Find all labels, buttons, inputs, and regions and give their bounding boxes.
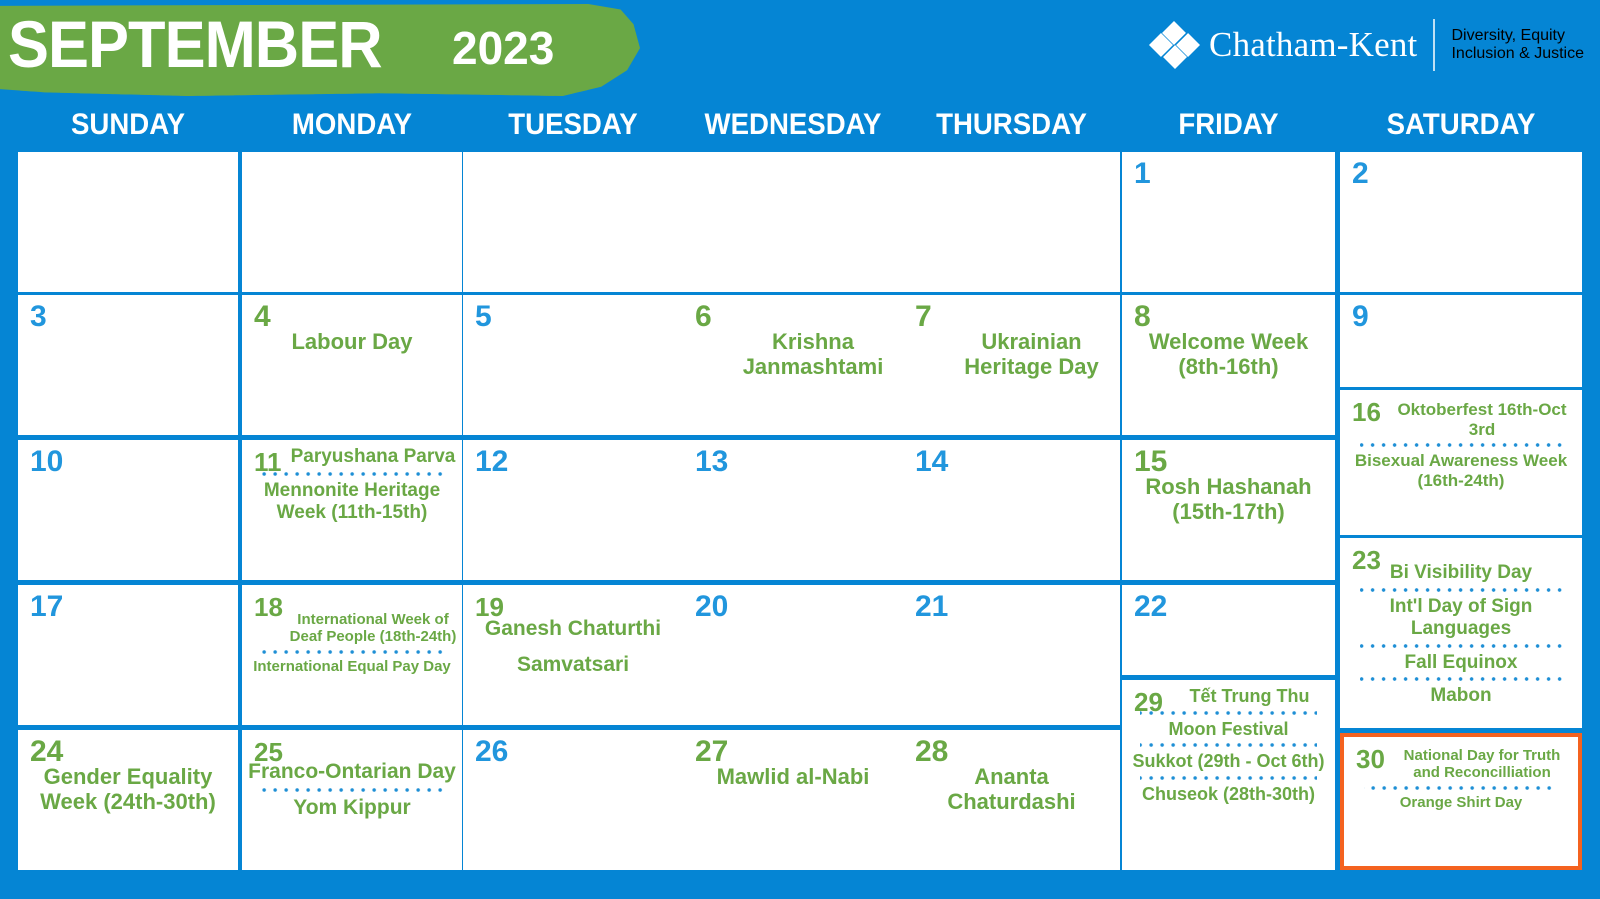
event-separator-dots xyxy=(261,647,443,657)
day-events: Franco-Ontarian DayYom Kippur xyxy=(246,760,458,820)
event-label: Paryushana Parva xyxy=(246,446,458,468)
tagline-line-1: Diversity, Equity xyxy=(1451,27,1584,45)
year-title: 2023 xyxy=(452,22,554,74)
weekday-header-friday: FRIDAY xyxy=(1131,104,1327,148)
day-number: 26 xyxy=(475,734,508,770)
day-events: Oktoberfest 16th-Oct 3rdBisexual Awarene… xyxy=(1344,400,1578,490)
calendar-empty-cell[interactable] xyxy=(18,152,238,292)
tagline-line-2: Inclusion & Justice xyxy=(1451,45,1584,63)
event-separator-dots xyxy=(261,785,443,795)
event-label: Chuseok (28th-30th) xyxy=(1126,784,1331,805)
calendar-day-cell[interactable]: 6Krishna Janmashtami xyxy=(683,295,903,435)
logo-divider xyxy=(1433,19,1435,71)
event-label: Samvatsari xyxy=(467,653,679,677)
day-number: 17 xyxy=(30,589,63,625)
day-number: 13 xyxy=(695,444,728,480)
calendar-day-cell[interactable]: 28Ananta Chaturdashi xyxy=(903,730,1120,870)
event-label: Krishna Janmashtami xyxy=(687,329,899,380)
weekday-header-tuesday: TUESDAY xyxy=(472,104,674,148)
event-label: Moon Festival xyxy=(1126,719,1331,740)
event-separator-dots xyxy=(1360,641,1561,651)
calendar-day-cell[interactable]: 14 xyxy=(903,440,1120,580)
event-label: Int'l Day of Sign Languages xyxy=(1344,596,1578,640)
weekday-header-wednesday: WEDNESDAY xyxy=(692,104,894,148)
calendar-day-cell[interactable]: 25Franco-Ontarian DayYom Kippur xyxy=(242,730,462,870)
event-label: International Week of Deaf People (18th-… xyxy=(246,611,458,646)
day-number: 3 xyxy=(30,299,47,335)
weekday-header-row: SUNDAYMONDAYTUESDAYWEDNESDAYTHURSDAYFRID… xyxy=(0,104,1600,148)
weekday-header-thursday: THURSDAY xyxy=(912,104,1112,148)
day-events: Ganesh ChaturthiSamvatsari xyxy=(467,617,679,677)
month-title: SEPTEMBER xyxy=(8,8,382,80)
calendar-day-cell[interactable]: 5 xyxy=(463,295,683,435)
day-events: International Week of Deaf People (18th-… xyxy=(246,611,458,675)
calendar-day-cell[interactable]: 29Tết Trung ThuMoon FestivalSukkot (29th… xyxy=(1122,680,1335,870)
event-label: Rosh Hashanah (15th-17th) xyxy=(1126,474,1331,525)
event-label: Sukkot (29th - Oct 6th) xyxy=(1126,751,1331,772)
day-events: Ananta Chaturdashi xyxy=(907,764,1116,815)
weekday-header-saturday: SATURDAY xyxy=(1350,104,1573,148)
event-label: Mennonite Heritage Week (11th-15th) xyxy=(246,480,458,524)
day-number: 21 xyxy=(915,589,948,625)
calendar-day-cell[interactable]: 16Oktoberfest 16th-Oct 3rdBisexual Aware… xyxy=(1340,390,1582,535)
event-label: Ananta Chaturdashi xyxy=(907,764,1116,815)
calendar-day-cell[interactable]: 18International Week of Deaf People (18t… xyxy=(242,585,462,725)
event-separator-dots xyxy=(1360,440,1561,450)
day-events: Krishna Janmashtami xyxy=(687,329,899,380)
day-events: Rosh Hashanah (15th-17th) xyxy=(1126,474,1331,525)
calendar-empty-cell[interactable] xyxy=(242,152,462,292)
event-label: Ganesh Chaturthi xyxy=(467,617,679,641)
event-separator-dots xyxy=(1140,740,1316,750)
event-label: Mawlid al-Nabi xyxy=(687,764,899,789)
calendar-day-cell[interactable]: 9 xyxy=(1340,295,1582,387)
event-label: Mabon xyxy=(1344,685,1578,707)
calendar-day-cell[interactable]: 7Ukrainian Heritage Day xyxy=(903,295,1120,435)
day-number: 22 xyxy=(1134,589,1167,625)
day-number: 12 xyxy=(475,444,508,480)
calendar-day-cell[interactable]: 22 xyxy=(1122,585,1335,675)
day-events: Ukrainian Heritage Day xyxy=(907,329,1116,380)
event-label: Fall Equinox xyxy=(1344,652,1578,674)
calendar-day-cell[interactable]: 15Rosh Hashanah (15th-17th) xyxy=(1122,440,1335,580)
calendar-day-cell[interactable]: 23Bi Visibility DayInt'l Day of Sign Lan… xyxy=(1340,538,1582,728)
event-separator-dots xyxy=(1140,708,1316,718)
calendar-empty-cell[interactable] xyxy=(683,152,903,292)
event-label: National Day for Truth and Reconcilliati… xyxy=(1348,747,1574,782)
calendar-empty-cell[interactable] xyxy=(903,152,1120,292)
day-events: Paryushana ParvaMennonite Heritage Week … xyxy=(246,446,458,524)
logo-wordmark: Chatham-Kent xyxy=(1209,25,1417,65)
day-events: Welcome Week (8th-16th) xyxy=(1126,329,1331,380)
day-number: 20 xyxy=(695,589,728,625)
day-number: 10 xyxy=(30,444,63,480)
event-separator-dots xyxy=(1360,585,1561,595)
event-label: Bisexual Awareness Week (16th-24th) xyxy=(1344,451,1578,490)
calendar-day-cell[interactable]: 11Paryushana ParvaMennonite Heritage Wee… xyxy=(242,440,462,580)
day-events: Bi Visibility DayInt'l Day of Sign Langu… xyxy=(1344,562,1578,707)
day-number: 5 xyxy=(475,299,492,335)
event-label: Tết Trung Thu xyxy=(1126,686,1331,707)
day-number: 9 xyxy=(1352,299,1369,335)
calendar-day-cell[interactable]: 24Gender Equality Week (24th-30th) xyxy=(18,730,238,870)
calendar-day-cell[interactable]: 8Welcome Week (8th-16th) xyxy=(1122,295,1335,435)
calendar-empty-cell[interactable] xyxy=(463,152,683,292)
event-label: Ukrainian Heritage Day xyxy=(907,329,1116,380)
calendar-day-cell[interactable]: 13 xyxy=(683,440,903,580)
day-events: Mawlid al-Nabi xyxy=(687,764,899,789)
calendar-day-cell[interactable]: 17 xyxy=(18,585,238,725)
event-separator-dots xyxy=(1360,674,1561,684)
event-label: Bi Visibility Day xyxy=(1344,562,1578,584)
day-number: 14 xyxy=(915,444,948,480)
event-label: International Equal Pay Day xyxy=(246,658,458,675)
day-number: 1 xyxy=(1134,156,1151,192)
calendar-day-cell[interactable]: 12 xyxy=(463,440,683,580)
event-separator-dots xyxy=(1364,783,1558,793)
calendar-day-cell[interactable]: 1 xyxy=(1122,152,1335,292)
calendar-day-cell[interactable]: 27Mawlid al-Nabi xyxy=(683,730,903,870)
event-label: Orange Shirt Day xyxy=(1348,794,1574,811)
event-label: Oktoberfest 16th-Oct 3rd xyxy=(1344,400,1578,439)
day-events: Labour Day xyxy=(246,329,458,354)
logo-tagline: Diversity, Equity Inclusion & Justice xyxy=(1451,27,1584,63)
calendar-day-cell[interactable]: 26 xyxy=(463,730,683,870)
calendar-day-cell[interactable]: 4Labour Day xyxy=(242,295,462,435)
calendar-header: SEPTEMBER 2023 Chatham-Kent Diversity, E… xyxy=(0,0,1600,104)
calendar-grid: 1234Labour Day56Krishna Janmashtami7Ukra… xyxy=(0,148,1600,888)
calendar-day-cell[interactable]: 20 xyxy=(683,585,903,725)
event-label: Welcome Week (8th-16th) xyxy=(1126,329,1331,380)
calendar-day-cell[interactable]: 2 xyxy=(1340,152,1582,292)
calendar-day-cell[interactable]: 19Ganesh ChaturthiSamvatsari xyxy=(463,585,683,725)
event-label: Gender Equality Week (24th-30th) xyxy=(22,764,234,815)
chatham-kent-diamond-icon xyxy=(1147,19,1203,71)
day-events: Tết Trung ThuMoon FestivalSukkot (29th -… xyxy=(1126,686,1331,805)
event-label: Yom Kippur xyxy=(246,796,458,820)
event-separator-dots xyxy=(1140,773,1316,783)
calendar-day-cell[interactable]: 30National Day for Truth and Reconcillia… xyxy=(1340,733,1582,870)
calendar-day-cell[interactable]: 3 xyxy=(18,295,238,435)
day-events: National Day for Truth and Reconcilliati… xyxy=(1348,747,1574,811)
event-label: Labour Day xyxy=(246,329,458,354)
event-separator-dots xyxy=(261,469,443,479)
chatham-kent-logo: Chatham-Kent Diversity, Equity Inclusion… xyxy=(1147,14,1584,76)
weekday-header-monday: MONDAY xyxy=(251,104,453,148)
weekday-header-sunday: SUNDAY xyxy=(27,104,229,148)
day-number: 2 xyxy=(1352,156,1369,192)
calendar-day-cell[interactable]: 21 xyxy=(903,585,1120,725)
calendar-day-cell[interactable]: 10 xyxy=(18,440,238,580)
event-label: Franco-Ontarian Day xyxy=(246,760,458,784)
day-events: Gender Equality Week (24th-30th) xyxy=(22,764,234,815)
